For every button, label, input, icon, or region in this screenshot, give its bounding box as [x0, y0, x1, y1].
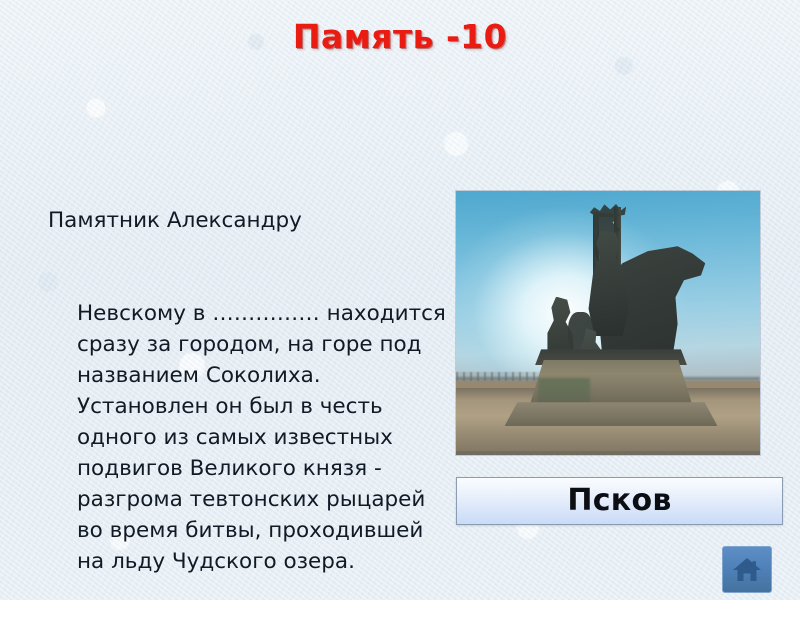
question-text: Памятник Александру Невскому в …………… нах…	[48, 143, 448, 639]
answer-label: Псков	[567, 486, 671, 516]
page-title: Память -10	[0, 17, 800, 56]
photo-plinth-base	[505, 402, 718, 426]
answer-box[interactable]: Псков	[456, 477, 783, 525]
monument-photo	[456, 191, 760, 455]
question-text-body: Невскому в …………… находится сразу за горо…	[48, 298, 448, 577]
photo-bottom-edge	[456, 451, 760, 455]
question-text-line-1: Памятник Александру	[48, 205, 448, 236]
home-button[interactable]	[722, 546, 772, 593]
home-icon	[732, 556, 762, 583]
photo-plinth-moss	[538, 378, 590, 404]
slide-canvas: Память -10 Памятник Александру Невскому …	[0, 0, 800, 600]
